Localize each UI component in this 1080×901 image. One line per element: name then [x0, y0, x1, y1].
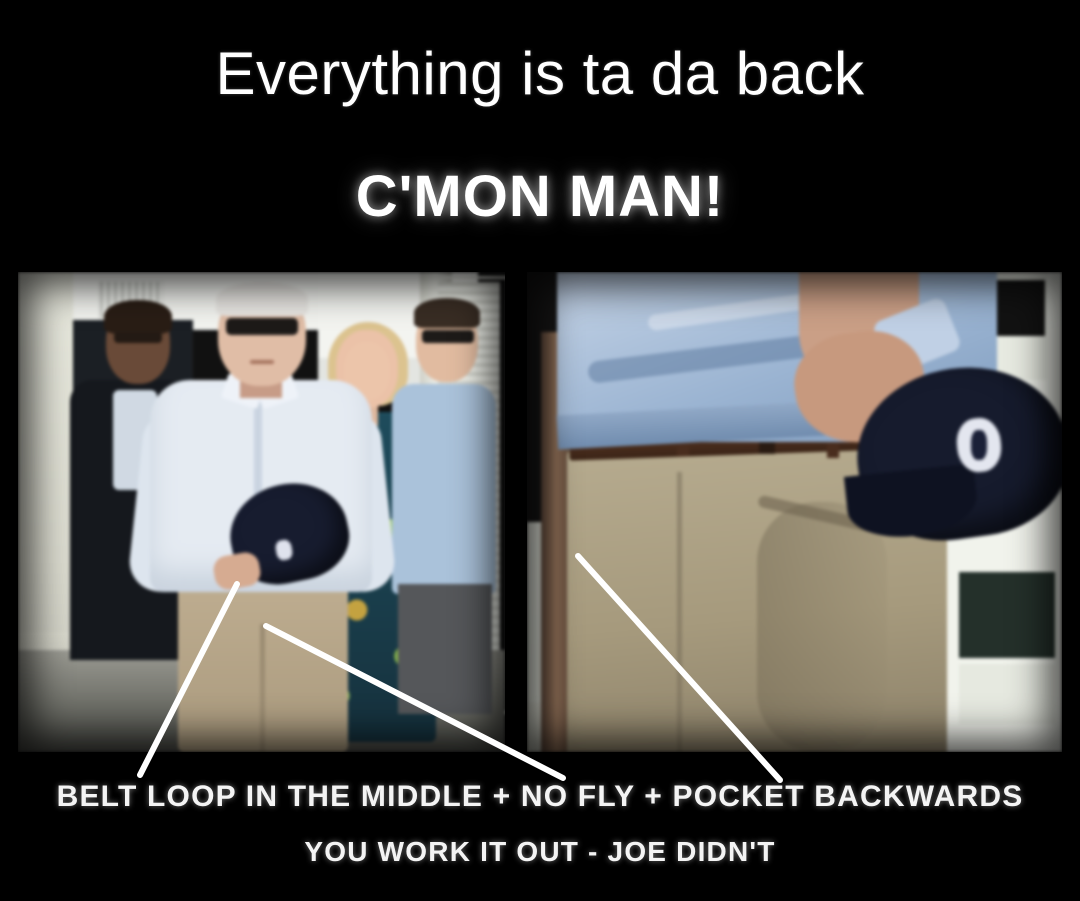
bottom-caption-line-1: BELT LOOP IN THE MIDDLE + NO FLY + POCKE…: [0, 782, 1080, 812]
subject-pants-inseam: [260, 624, 265, 752]
subject-sunglasses: [226, 318, 298, 335]
person-aide-hair: [104, 300, 172, 334]
subject-mouth: [250, 360, 274, 364]
person-agent-hair: [414, 298, 480, 328]
person-agent-pants: [398, 584, 492, 714]
pants-shadow: [757, 502, 887, 752]
left-panel-scene: [18, 272, 505, 752]
dark-recess: [997, 280, 1045, 336]
meme-image: Everything is ta da back C'MON MAN!: [0, 0, 1080, 901]
person-agent-sunglasses: [422, 330, 474, 343]
lower-wall-panel: [959, 664, 1055, 724]
person-agent-shirt: [392, 384, 496, 594]
pants-crease: [677, 472, 682, 752]
person-aide-sunglasses: [114, 332, 162, 343]
dark-lower-panel: [959, 572, 1055, 658]
bottom-caption-line-2: YOU WORK IT OUT - JOE DIDN'T: [0, 838, 1080, 866]
top-caption: Everything is ta da back: [0, 44, 1080, 104]
sub-caption: C'MON MAN!: [0, 168, 1080, 226]
photo-panel-left: [18, 272, 505, 752]
photo-panel-right: [527, 272, 1062, 752]
cap-logo-inner: [971, 430, 987, 460]
subject-hair: [216, 282, 308, 316]
right-panel-scene: [527, 272, 1062, 752]
